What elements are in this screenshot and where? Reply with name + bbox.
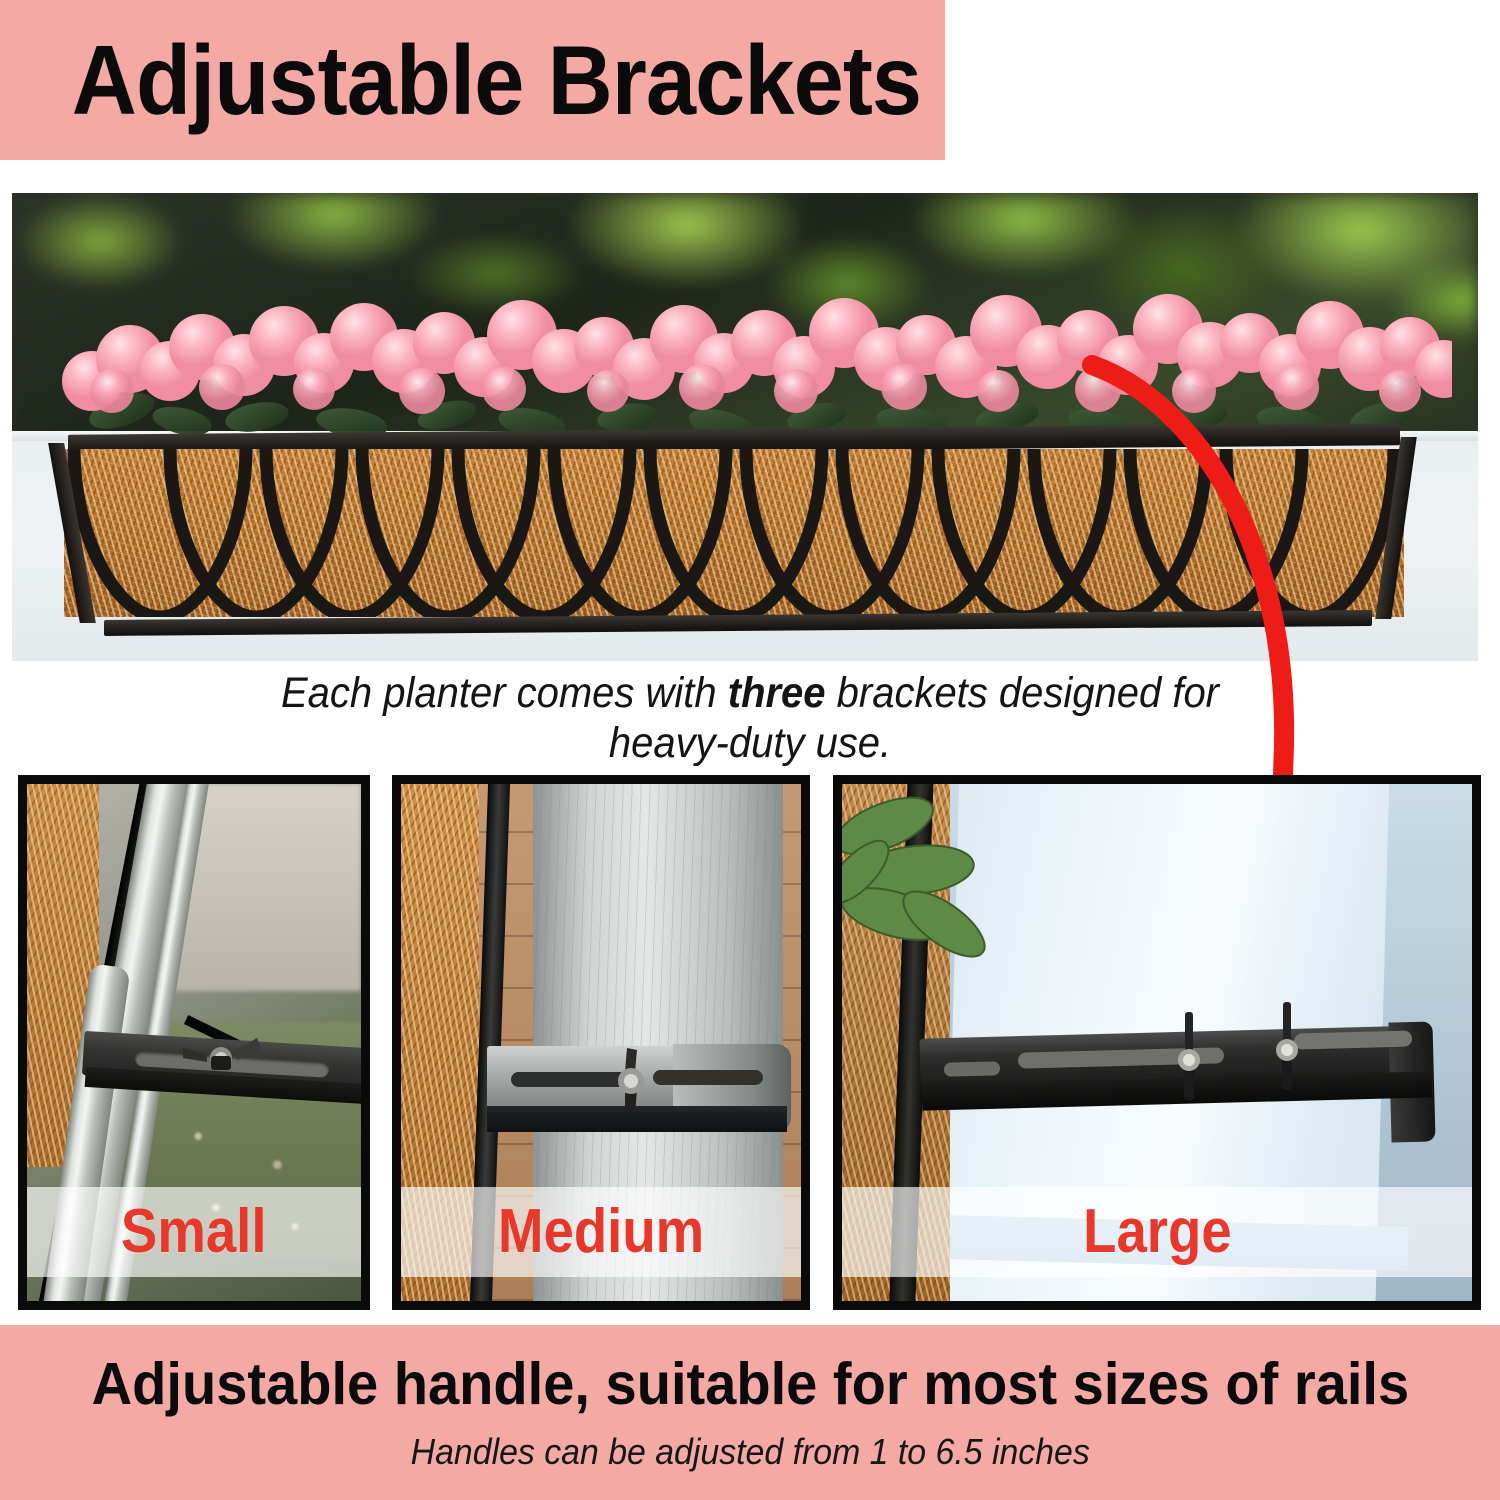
large-bracket-slot-a	[944, 1061, 1000, 1076]
caption-line1-bold: three	[728, 669, 826, 717]
caption-line1-after: brackets designed for	[826, 669, 1219, 717]
large-wing-nut-1	[1172, 1012, 1206, 1100]
bottom-info-banner: Adjustable handle, suitable for most siz…	[0, 1325, 1500, 1500]
bracket-panel-medium: Medium	[392, 775, 810, 1310]
hero-caption: Each planter comes with three brackets d…	[220, 668, 1280, 769]
window-box-planter	[64, 429, 1404, 637]
wing-nut-icon	[177, 1032, 263, 1076]
hero-planter-photo	[12, 193, 1478, 661]
footer-subtitle: Handles can be adjusted from 1 to 6.5 in…	[410, 1434, 1089, 1470]
bracket-panel-small: Small	[18, 775, 370, 1310]
wing-nut-icon	[591, 1046, 669, 1116]
medium-wing-nut	[591, 1046, 669, 1116]
size-label-small: Small	[121, 1201, 267, 1263]
arch-lattice-pattern	[64, 449, 1404, 617]
wing-nut-icon	[1172, 1012, 1206, 1100]
caption-line2: heavy-duty use.	[609, 719, 891, 767]
medium-bracket-slot-right	[653, 1070, 763, 1085]
footer-title: Adjustable handle, suitable for most siz…	[91, 1355, 1408, 1414]
size-label-large: Large	[1083, 1201, 1232, 1263]
page-title: Adjustable Brackets	[0, 31, 921, 129]
large-wing-nut-2	[1270, 1002, 1304, 1090]
large-label-band: Large	[842, 1187, 1472, 1277]
planter-body	[64, 449, 1404, 617]
large-green-leaves	[833, 792, 1042, 1012]
top-title-banner: Adjustable Brackets	[0, 0, 945, 160]
wing-nut-icon	[1270, 1002, 1304, 1090]
size-label-medium: Medium	[498, 1201, 704, 1263]
large-bracket-slot-c	[1294, 1030, 1412, 1049]
azalea-flower-mass	[52, 271, 1452, 447]
flowers-svg	[52, 271, 1452, 447]
small-wing-nut	[177, 1032, 263, 1076]
medium-label-band: Medium	[401, 1187, 801, 1277]
caption-line1-before: Each planter comes with	[281, 669, 728, 717]
leaves-svg	[833, 792, 1042, 1012]
bracket-panel-large: Large	[833, 775, 1481, 1310]
small-label-band: Small	[27, 1187, 361, 1277]
